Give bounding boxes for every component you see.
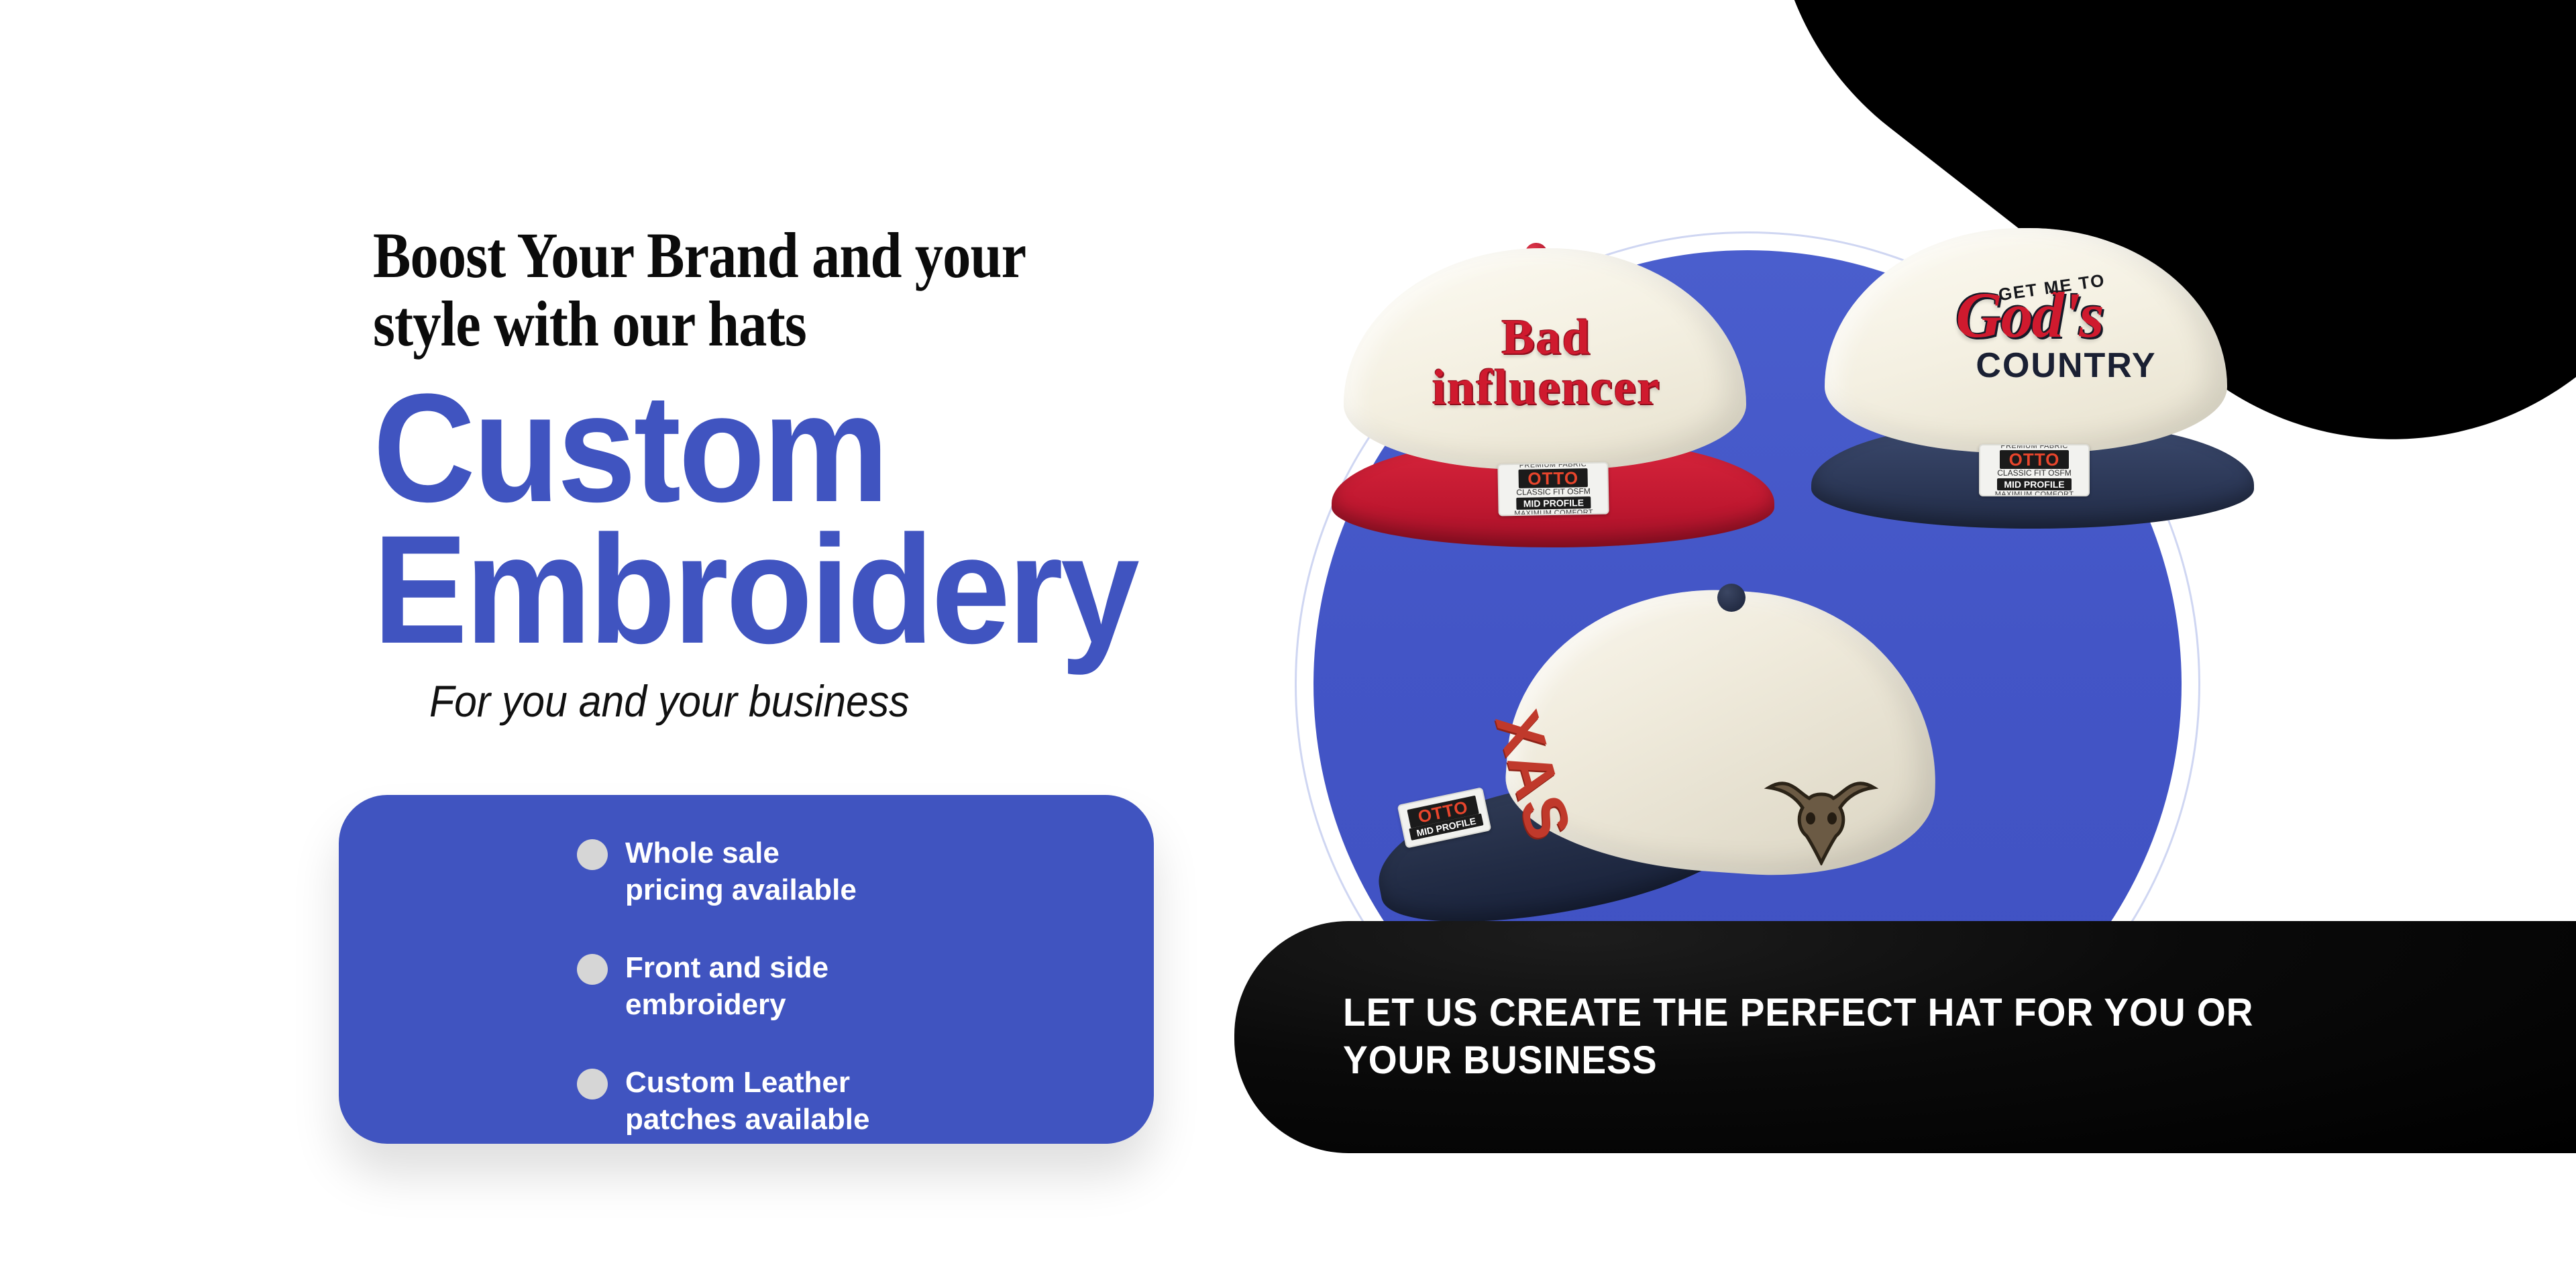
bullet-dot-icon [577, 954, 608, 985]
hat-sticker-label: PREMIUM FABRIC OTTO CLASSIC FIT OSFM MID… [1497, 462, 1609, 517]
sticker-brand-text: OTTO [1518, 469, 1588, 489]
list-item: Custom Leather patches available [577, 1065, 1154, 1138]
sticker-brand-text: OTTO [2000, 450, 2070, 469]
list-item: Front and side embroidery [577, 950, 1154, 1023]
tagline: For you and your business [429, 676, 1242, 727]
eyebrow-heading: Boost Your Brand and your style with our… [373, 221, 1199, 358]
sticker-fit-text: CLASSIC FIT OSFM [1516, 487, 1591, 497]
bullet-dot-icon [577, 1069, 608, 1099]
feature-card: Whole sale pricing available Front and s… [339, 795, 1154, 1144]
sticker-bottom-text: MAXIMUM COMFORT [1995, 490, 2074, 496]
headline-line-2: Embroidery [373, 519, 1237, 661]
feature-label: Whole sale pricing available [625, 835, 857, 908]
product-image-texas-skull-hat: XAS OTTO MID PROFILE [1375, 590, 1966, 966]
product-image-gods-country-hat: GET ME TO God's COUNTRY PREMIUM FABRIC O… [1811, 228, 2254, 530]
embroidery-line-block: COUNTRY [1858, 345, 2200, 386]
cta-text: LET US CREATE THE PERFECT HAT FOR YOU OR… [1343, 989, 2253, 1085]
bull-skull-icon [1761, 765, 1882, 865]
bullet-dot-icon [577, 839, 608, 870]
sticker-profile-text: MID PROFILE [1517, 496, 1591, 510]
list-item: Whole sale pricing available [577, 835, 1154, 908]
product-image-bad-influencer-hat: Bad influencer PREMIUM FABRIC OTTO CLASS… [1332, 248, 1774, 550]
promo-banner: Boost Your Brand and your style with our… [0, 0, 2576, 1288]
hat-embroidery-group: GET ME TO God's COUNTRY [1858, 280, 2200, 386]
feature-label: Front and side embroidery [625, 950, 828, 1023]
cta-banner: LET US CREATE THE PERFECT HAT FOR YOU OR… [1234, 921, 2576, 1153]
sticker-fit-text: CLASSIC FIT OSFM [1997, 469, 2071, 478]
feature-label: Custom Leather patches available [625, 1065, 869, 1138]
sticker-profile-text: MID PROFILE [1997, 478, 2071, 490]
left-text-column: Boost Your Brand and your style with our… [373, 221, 1312, 727]
hat-embroidery-text: Bad influencer [1372, 313, 1721, 414]
hat-sticker-label: PREMIUM FABRIC OTTO CLASSIC FIT OSFM MID… [1979, 444, 2090, 496]
hat-button-icon [1717, 584, 1746, 612]
feature-list: Whole sale pricing available Front and s… [577, 835, 1154, 1138]
page-title: Custom Embroidery [373, 377, 1237, 661]
